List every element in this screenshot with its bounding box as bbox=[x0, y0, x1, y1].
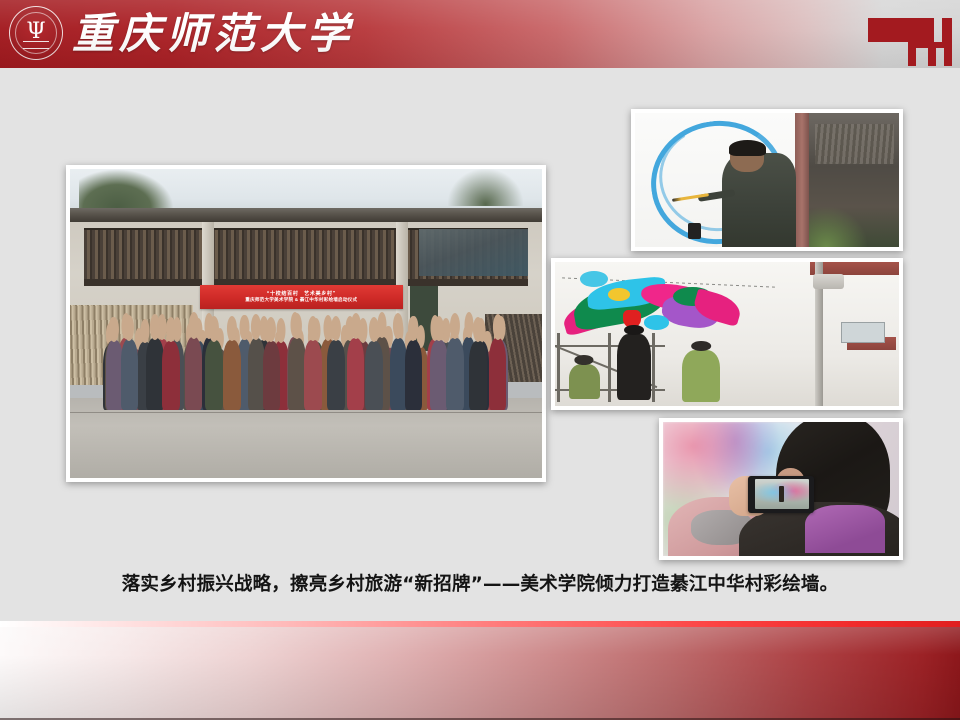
seal-emblem-glyph: Ψ bbox=[26, 21, 45, 43]
purple-scarf bbox=[805, 505, 885, 553]
worker-raincoat bbox=[682, 350, 720, 402]
tarp-cover bbox=[419, 229, 528, 275]
window bbox=[841, 322, 886, 342]
painter-scene bbox=[635, 113, 899, 247]
crowd bbox=[70, 305, 542, 410]
footer-band bbox=[0, 627, 960, 720]
photo-group-ceremony[interactable]: “十校结百村 艺术美乡村” 重庆师范大学美术学院 & 綦江中华村彩绘墙启动仪式 bbox=[66, 165, 546, 482]
plant bbox=[809, 207, 867, 247]
ceremony-banner: “十校结百村 艺术美乡村” 重庆师范大学美术学院 & 綦江中华村彩绘墙启动仪式 bbox=[200, 285, 403, 309]
photo-mural-painting[interactable] bbox=[551, 258, 903, 410]
smartphone-icon bbox=[748, 476, 814, 514]
banner-line-2: 重庆师范大学美术学院 & 綦江中华村彩绘墙启动仪式 bbox=[245, 297, 357, 303]
worker-crouching bbox=[569, 364, 600, 399]
phone-scene bbox=[663, 422, 899, 556]
stone-wall bbox=[815, 124, 894, 164]
mural-scene bbox=[555, 262, 899, 406]
held-phone bbox=[688, 223, 701, 239]
university-seal-icon: Ψ bbox=[9, 6, 63, 60]
tree-left bbox=[79, 169, 173, 212]
seal-book-icon bbox=[23, 41, 49, 49]
header-banner: Ψ 重庆师范大学 bbox=[0, 0, 960, 68]
meander-ornament-top-right-icon bbox=[864, 8, 960, 66]
photo-painter-sketching[interactable] bbox=[631, 109, 903, 251]
worker-standing bbox=[617, 334, 651, 400]
painter-hair bbox=[729, 140, 766, 156]
university-name: 重庆师范大学 bbox=[72, 2, 354, 66]
vent-duct bbox=[813, 274, 844, 290]
photo-villager-photographing[interactable] bbox=[659, 418, 903, 560]
building-roof bbox=[70, 208, 542, 222]
footer-shade bbox=[0, 627, 960, 720]
slide: Ψ 重庆师范大学 bbox=[0, 0, 960, 720]
brick-column bbox=[795, 113, 810, 247]
group-photo-scene: “十校结百村 艺术美乡村” 重庆师范大学美术学院 & 綦江中华村彩绘墙启动仪式 bbox=[70, 169, 542, 478]
slide-caption: 落实乡村振兴战略，擦亮乡村旅游“新招牌”——美术学院倾力打造綦江中华村彩绘墙。 bbox=[0, 572, 960, 598]
tree-right bbox=[448, 169, 524, 206]
phone-screen-preview bbox=[755, 479, 809, 509]
